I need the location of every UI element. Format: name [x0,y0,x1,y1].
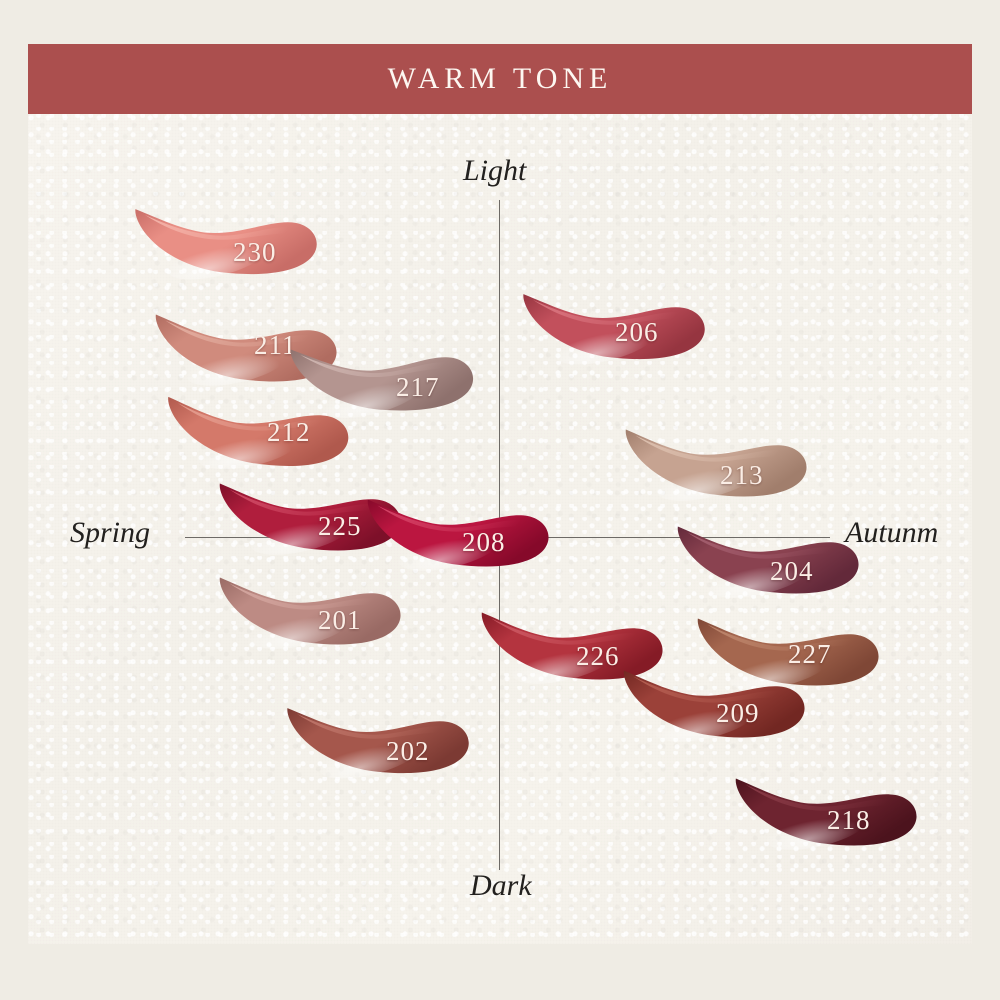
axis-label-dark: Dark [470,869,532,903]
axis-label-spring: Spring [70,516,150,550]
page-title: WARM TONE [388,62,613,96]
axis-label-light: Light [463,154,526,188]
header-banner: WARM TONE [28,44,972,114]
shade-chart-page: WARM TONE Light Dark Spring Autunm 23021… [0,0,1000,1000]
